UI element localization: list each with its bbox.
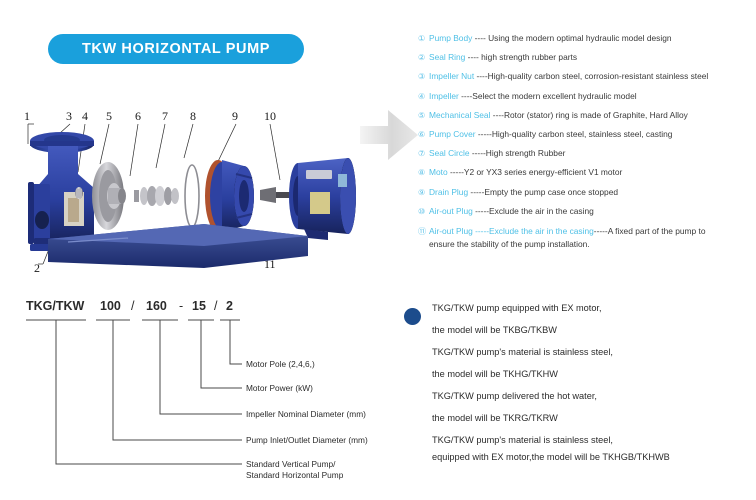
- model-label-impeller-diameter: Impeller Nominal Diameter (mm): [246, 409, 366, 419]
- legend-item: ⑩Air-out Plug -----Exclude the air in th…: [418, 206, 752, 217]
- variant-line: TKG/TKW pump's material is stainless ste…: [432, 434, 752, 447]
- model-token-power: 15: [192, 299, 206, 313]
- legend-item: ⑥Pump Cover -----High-quality carbon ste…: [418, 129, 752, 140]
- legend-dash: -----: [594, 226, 608, 236]
- pump-body-part: [28, 132, 100, 251]
- legend-part-name: Drain Plug: [429, 187, 468, 197]
- legend-dash: -----: [470, 148, 486, 158]
- model-leader-lines: [56, 328, 242, 464]
- mechanical-seal-part: [134, 186, 179, 206]
- callout-10: 10: [264, 109, 276, 123]
- exploded-pump-diagram: 1 2 3 4 5 6 7 8 9 10 11: [8, 96, 358, 286]
- model-token-series: TKG/TKW: [26, 299, 85, 313]
- legend-part-name: Moto: [429, 167, 448, 177]
- callout-4: 4: [82, 109, 88, 123]
- callout-8: 8: [190, 109, 196, 123]
- legend-description: Y2 or YX3 series energy-efficient V1 mot…: [464, 167, 622, 177]
- legend-dash: ----: [465, 52, 481, 62]
- legend-item: ⑧Moto -----Y2 or YX3 series energy-effic…: [418, 167, 752, 178]
- legend-item: ④Impeller ----Select the modern excellen…: [418, 91, 752, 102]
- callout-6: 6: [135, 109, 141, 123]
- legend-number: ③: [418, 71, 429, 82]
- legend-description: Using the modern optimal hydraulic model…: [488, 33, 671, 43]
- legend-description: Exclude the air in the casing: [489, 206, 594, 216]
- flow-arrow-right: [358, 104, 420, 166]
- parts-legend: ①Pump Body ---- Using the modern optimal…: [418, 33, 752, 259]
- legend-description: Select the modern excellent hydraulic mo…: [472, 91, 636, 101]
- legend-number: ⑧: [418, 167, 429, 178]
- callout-1: 1: [24, 109, 30, 123]
- legend-item: ③Impeller Nut ----High-quality carbon st…: [418, 71, 752, 82]
- legend-number: ⑪: [418, 226, 429, 239]
- callout-9: 9: [232, 109, 238, 123]
- pump-cover-part: [205, 160, 254, 232]
- legend-item: ⑤Mechanical Seal ----Rotor (stator) ring…: [418, 110, 752, 121]
- impeller-part: [92, 162, 126, 230]
- model-label-standard-vertical: Standard Vertical Pump/: [246, 459, 336, 469]
- legend-part-name: Pump Body: [429, 33, 472, 43]
- legend-number: ⑤: [418, 110, 429, 121]
- impeller-nut-part: [75, 187, 83, 199]
- legend-item: ②Seal Ring ---- high strength rubber par…: [418, 52, 752, 63]
- legend-item: ⑨Drain Plug -----Empty the pump case onc…: [418, 187, 752, 198]
- variants-text-list: TKG/TKW pump equipped with EX motor, the…: [432, 302, 752, 464]
- legend-part-name: Air-out Plug: [429, 206, 473, 216]
- model-underlines: [26, 320, 240, 328]
- legend-item: ⑦Seal Circle -----High strength Rubber: [418, 148, 752, 159]
- callout-7: 7: [162, 109, 168, 123]
- callout-2: 2: [34, 261, 40, 275]
- legend-number: ⑦: [418, 148, 429, 159]
- callout-5: 5: [106, 109, 112, 123]
- legend-description: high strength rubber parts: [481, 52, 577, 62]
- variant-line: TKG/TKW pump equipped with EX motor,: [432, 302, 752, 315]
- legend-part-name: Seal Ring: [429, 52, 465, 62]
- bullet-dot-icon: [404, 308, 421, 325]
- legend-description: Empty the pump case once stopped: [484, 187, 618, 197]
- legend-part-name: Pump Cover: [429, 129, 476, 139]
- model-label-inlet-diameter: Pump Inlet/Outlet Diameter (mm): [246, 435, 368, 445]
- legend-part-name: Impeller: [429, 91, 459, 101]
- variant-line: TKG/TKW pump delivered the hot water,: [432, 390, 752, 403]
- pump-spec-sheet: TKW HORIZONTAL PUMP: [0, 0, 756, 500]
- page-title: TKW HORIZONTAL PUMP: [82, 41, 270, 57]
- model-label-standard-horizontal: Standard Horizontal Pump: [246, 470, 344, 480]
- legend-part-name: Seal Circle: [429, 148, 470, 158]
- model-token-impeller: 160: [146, 299, 167, 313]
- legend-description: A fixed part of the pump to: [608, 226, 706, 236]
- legend-item: ⑪Air-out Plug -----Exclude the air in th…: [418, 225, 752, 251]
- legend-number: ④: [418, 91, 429, 102]
- legend-part-name: Air-out Plug -----Exclude the air in the…: [429, 226, 594, 236]
- page-title-badge: TKW HORIZONTAL PUMP: [48, 34, 304, 64]
- callout-3: 3: [66, 109, 72, 123]
- legend-dash: -----: [448, 167, 464, 177]
- seal-circle-part: [185, 165, 199, 227]
- legend-description: Rotor (stator) ring is made of Graphite,…: [504, 110, 688, 120]
- model-label-motor-power: Motor Power (kW): [246, 383, 313, 393]
- variant-line: the model will be TKRG/TKRW: [432, 412, 752, 425]
- variant-line: equipped with EX motor,the model will be…: [432, 451, 752, 464]
- legend-dash: ----: [474, 71, 487, 81]
- legend-number: ⑨: [418, 187, 429, 198]
- legend-dash: ----: [490, 110, 503, 120]
- legend-dash: ----: [459, 91, 472, 101]
- legend-part-name: Impeller Nut: [429, 71, 474, 81]
- motor-part: [289, 158, 356, 240]
- legend-part-name: Mechanical Seal: [429, 110, 490, 120]
- model-separator-2: -: [179, 299, 183, 313]
- legend-number: ⑥: [418, 129, 429, 140]
- legend-dash: -----: [476, 129, 492, 139]
- model-token-pole: 2: [226, 299, 233, 313]
- legend-description: High-quality carbon steel, corrosion-res…: [488, 71, 709, 81]
- model-separator-1: /: [131, 299, 135, 313]
- legend-dash: ----: [472, 33, 488, 43]
- variant-line: TKG/TKW pump's material is stainless ste…: [432, 346, 752, 359]
- legend-number: ①: [418, 33, 429, 44]
- legend-dash: -----: [473, 206, 489, 216]
- legend-description: High strength Rubber: [486, 148, 566, 158]
- variant-line: the model will be TKHG/TKHW: [432, 368, 752, 381]
- model-token-inlet: 100: [100, 299, 121, 313]
- legend-description-line2: ensure the stability of the pump install…: [418, 238, 752, 251]
- model-variants-block: TKG/TKW pump equipped with EX motor, the…: [402, 302, 752, 473]
- variant-line: the model will be TKBG/TKBW: [432, 324, 752, 337]
- legend-description: High-quality carbon steel, stainless ste…: [492, 129, 673, 139]
- legend-item: ①Pump Body ---- Using the modern optimal…: [418, 33, 752, 44]
- legend-number: ⑩: [418, 206, 429, 217]
- legend-dash: -----: [468, 187, 484, 197]
- model-code-breakdown: TKG/TKW 100 / 160 - 15 / 2: [14, 296, 414, 492]
- model-separator-3: /: [214, 299, 218, 313]
- model-label-motor-pole: Motor Pole (2,4,6,): [246, 359, 315, 369]
- legend-number: ②: [418, 52, 429, 63]
